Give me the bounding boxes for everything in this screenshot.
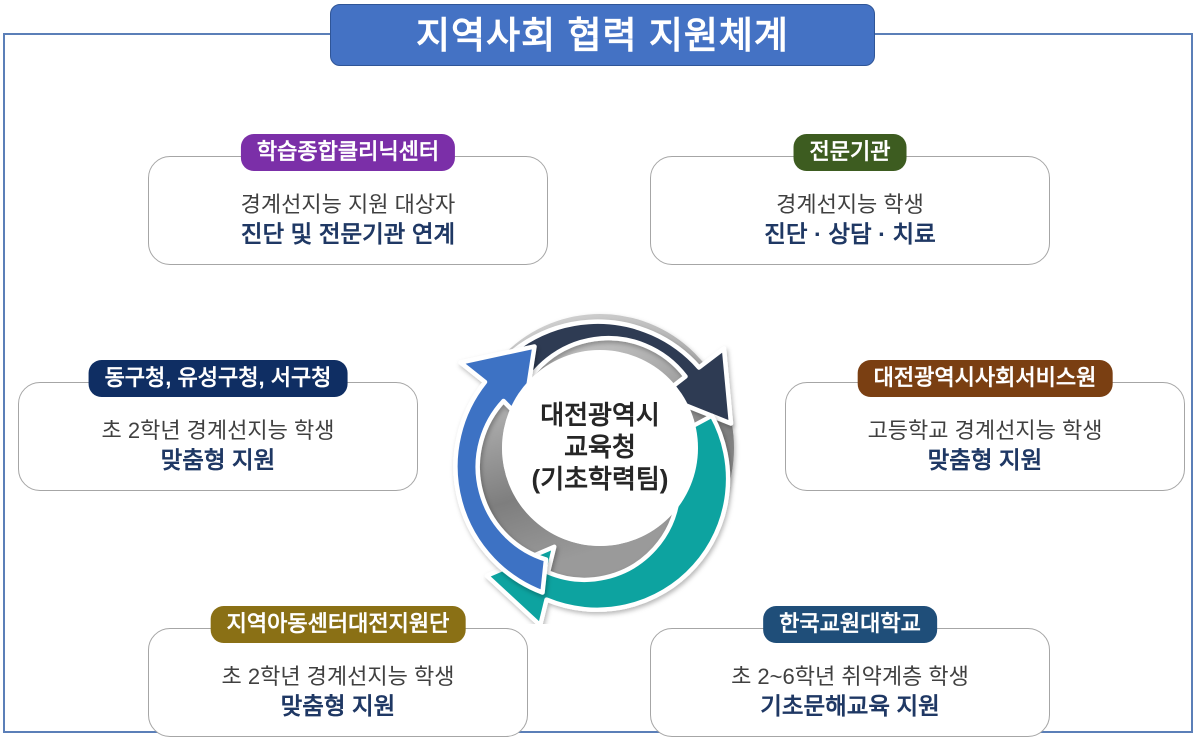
card-social-service-agency-line2: 맞춤형 지원	[796, 445, 1174, 476]
card-district-offices-line1: 초 2학년 경계선지능 학생	[29, 417, 407, 445]
card-clinic-line2: 진단 및 전문기관 연계	[159, 219, 537, 250]
card-district-offices-body: 초 2학년 경계선지능 학생 맞춤형 지원	[18, 382, 418, 491]
card-university-line2: 기초문해교육 지원	[661, 691, 1039, 722]
card-district-offices-line2: 맞춤형 지원	[29, 445, 407, 476]
card-social-service-agency-header[interactable]: 대전광역시사회서비스원	[858, 360, 1113, 397]
card-clinic-header[interactable]: 학습종합클리닉센터	[241, 134, 455, 171]
page-title-banner: 지역사회 협력 지원체계	[330, 4, 875, 66]
card-university-line1: 초 2~6학년 취약계층 학생	[661, 663, 1039, 691]
central-cycle-diagram: 대전광역시 교육청 (기초학력팀)	[424, 272, 776, 624]
card-district-offices-header[interactable]: 동구청, 유성구청, 서구청	[89, 360, 348, 397]
card-social-service-agency-line1: 고등학교 경계선지능 학생	[796, 417, 1174, 445]
card-university-body: 초 2~6학년 취약계층 학생 기초문해교육 지원	[650, 628, 1050, 737]
card-child-center-line2: 맞춤형 지원	[159, 691, 517, 722]
card-clinic-body: 경계선지능 지원 대상자 진단 및 전문기관 연계	[148, 156, 548, 265]
card-child-center-body: 초 2학년 경계선지능 학생 맞춤형 지원	[148, 628, 528, 737]
card-specialist-body: 경계선지능 학생 진단 · 상담 · 치료	[650, 156, 1050, 265]
cycle-svg	[424, 272, 776, 624]
card-university-header[interactable]: 한국교원대학교	[763, 606, 937, 643]
card-specialist-line2: 진단 · 상담 · 치료	[661, 219, 1039, 250]
card-child-center-line1: 초 2학년 경계선지능 학생	[159, 663, 517, 691]
cycle-inner-disc	[502, 350, 698, 546]
card-specialist-line1: 경계선지능 학생	[661, 191, 1039, 219]
card-specialist-header[interactable]: 전문기관	[794, 134, 907, 171]
card-social-service-agency-body: 고등학교 경계선지능 학생 맞춤형 지원	[785, 382, 1185, 491]
card-clinic-line1: 경계선지능 지원 대상자	[159, 191, 537, 219]
page-title: 지역사회 협력 지원체계	[416, 17, 789, 54]
